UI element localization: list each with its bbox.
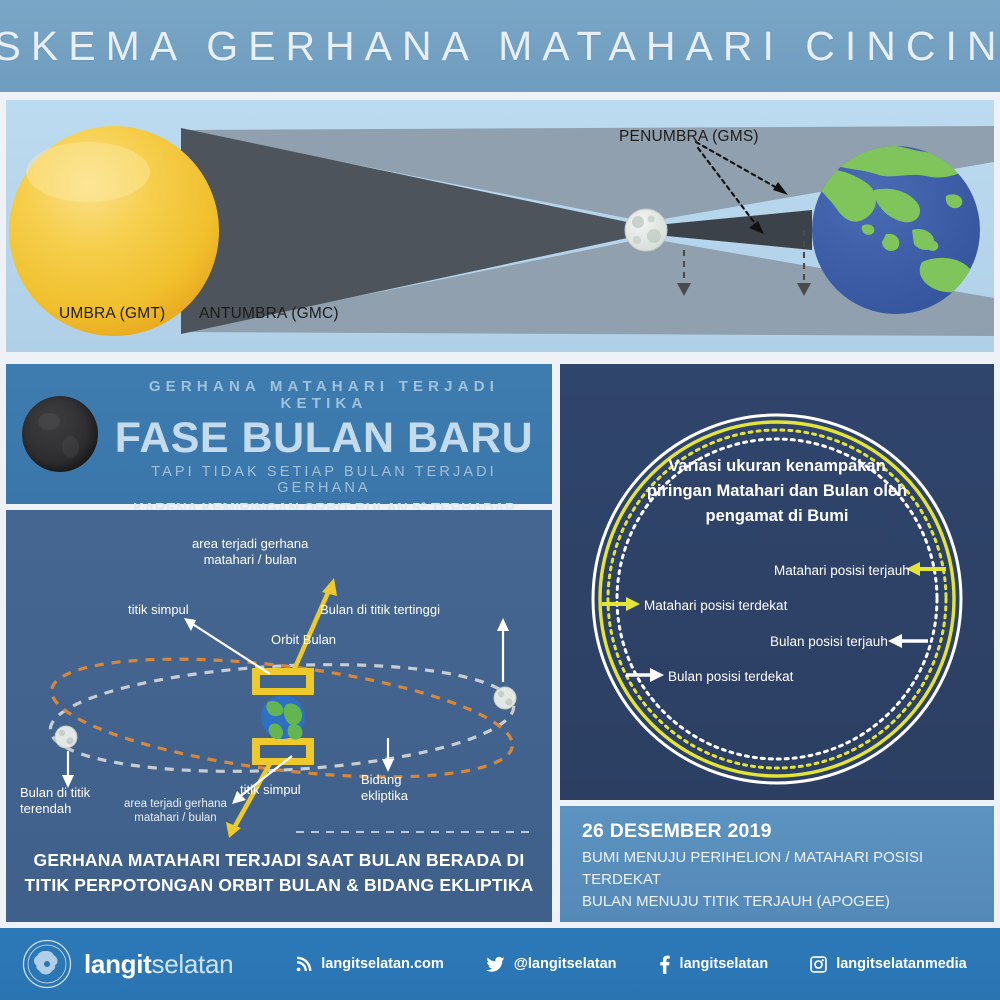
- moon-nearest-label: Bulan posisi terdekat: [668, 669, 793, 684]
- moon-highest-label: Bulan di titik tertinggi: [320, 602, 440, 618]
- moon-farthest-label: Bulan posisi terjauh: [770, 634, 888, 649]
- event-detail-line2: BULAN MENUJU TITIK TERJAUH (APOGEE): [582, 891, 994, 913]
- phase-line-1: GERHANA MATAHARI TERJADI KETIKA: [104, 378, 544, 412]
- ecliptic-plane-label: Bidang ekliptika: [361, 772, 408, 804]
- social-label-instagram: langitselatanmedia: [836, 956, 967, 972]
- phase-headline: FASE BULAN BARU: [104, 414, 544, 462]
- lowest-point-arrow: [62, 751, 74, 788]
- social-link-twitter[interactable]: @langitselatan: [486, 956, 617, 973]
- apparent-size-panel: Variasi ukuran kenampakan piringan Matah…: [560, 364, 994, 800]
- eclipse-area-bottom-line1: area terjadi gerhana: [124, 797, 227, 811]
- eclipse-area-top-line2: matahari / bulan: [192, 552, 308, 568]
- brand-name: langitselatan: [84, 949, 233, 980]
- eclipse-area-top-line1: area terjadi gerhana: [192, 536, 308, 552]
- apparent-size-title-line3: pengamat di Bumi: [620, 504, 934, 529]
- phase-line-3: TAPI TIDAK SETIAP BULAN TERJADI GERHANA: [104, 464, 544, 496]
- moon-lowest-point: [55, 726, 77, 748]
- twitter-icon: [486, 956, 505, 973]
- sun-farthest-label: Matahari posisi terjauh: [774, 563, 910, 578]
- brand-lockup[interactable]: langitselatan: [22, 939, 233, 989]
- social-link-facebook[interactable]: langitselatan: [659, 955, 769, 974]
- sun-farthest-arrow: [906, 562, 946, 576]
- infographic-page: SKEMA GERHANA MATAHARI CINCIN: [0, 0, 1000, 1000]
- social-link-instagram[interactable]: langitselatanmedia: [810, 956, 967, 973]
- instagram-icon: [810, 956, 827, 973]
- eclipse-area-arrow-top: [294, 578, 337, 670]
- orbit-caption-line1: GERHANA MATAHARI TERJADI SAAT BULAN BERA…: [6, 848, 552, 873]
- node-label-arrow-top: [184, 618, 270, 674]
- social-label-twitter: @langitselatan: [514, 956, 617, 972]
- page-header: SKEMA GERHANA MATAHARI CINCIN: [0, 0, 1000, 92]
- event-date: 26 DESEMBER 2019: [582, 820, 994, 843]
- social-link-website[interactable]: langitselatan.com: [295, 956, 443, 973]
- penumbra-label: PENUMBRA (GMS): [619, 128, 759, 146]
- event-date-panel: 26 DESEMBER 2019 BUMI MENUJU PERIHELION …: [560, 806, 994, 922]
- node-label-bottom: titik simpul: [240, 782, 301, 798]
- apparent-size-title-line1: Variasi ukuran kenampakan: [620, 454, 934, 479]
- page-footer: langitselatan langitselatan.com @langits…: [0, 928, 1000, 1000]
- new-moon-phase-panel: GERHANA MATAHARI TERJADI KETIKA FASE BUL…: [6, 364, 552, 504]
- moon-farthest-arrow: [888, 634, 928, 648]
- moon: [625, 209, 667, 251]
- facebook-icon: [659, 955, 671, 974]
- orbit-caption: GERHANA MATAHARI TERJADI SAAT BULAN BERA…: [6, 848, 552, 898]
- orbit-caption-line2: TITIK PERPOTONGAN ORBIT BULAN & BIDANG E…: [6, 873, 552, 898]
- earth-icon: [261, 695, 305, 740]
- eclipse-area-label-bottom: area terjadi gerhana matahari / bulan: [124, 797, 227, 825]
- langitselatan-seal-logo: [22, 939, 72, 989]
- apparent-size-svg: [560, 364, 994, 800]
- moon-orbit-panel: area terjadi gerhana matahari / bulan ti…: [6, 510, 552, 922]
- brand-name-light: selatan: [152, 949, 234, 979]
- moon-orbit-label: Orbit Bulan: [271, 632, 336, 648]
- brand-name-bold: langit: [84, 949, 152, 979]
- moon-nearest-arrow: [626, 668, 664, 682]
- page-title: SKEMA GERHANA MATAHARI CINCIN: [0, 23, 1000, 70]
- moon-lowest-line1: Bulan di titik: [20, 785, 90, 801]
- eclipse-area-bottom-line2: matahari / bulan: [124, 811, 227, 825]
- eclipse-area-label-top: area terjadi gerhana matahari / bulan: [192, 536, 308, 568]
- social-label-website: langitselatan.com: [321, 956, 443, 972]
- node-label-top: titik simpul: [128, 602, 189, 618]
- ascending-node-marker: [252, 668, 314, 695]
- apparent-size-title: Variasi ukuran kenampakan piringan Matah…: [620, 454, 934, 529]
- ecliptic-line1: Bidang: [361, 772, 408, 788]
- social-links: langitselatan.com @langitselatan langits…: [295, 955, 966, 974]
- umbra-label: UMBRA (GMT): [59, 305, 165, 323]
- rss-icon: [295, 956, 312, 973]
- moon-highest-point: [494, 687, 516, 709]
- event-detail-line1: BUMI MENUJU PERIHELION / MATAHARI POSISI…: [582, 847, 994, 891]
- ecliptic-plane-arrow: [382, 738, 394, 772]
- moon-lowest-label: Bulan di titik terendah: [20, 785, 90, 817]
- new-moon-icon: [22, 396, 98, 472]
- descending-node-marker: [252, 738, 314, 765]
- apparent-size-title-line2: piringan Matahari dan Bulan oleh: [620, 479, 934, 504]
- ecliptic-line2: ekliptika: [361, 788, 408, 804]
- social-label-facebook: langitselatan: [680, 956, 769, 972]
- sun-nearest-label: Matahari posisi terdekat: [644, 598, 787, 613]
- moon-lowest-line2: terendah: [20, 801, 90, 817]
- eclipse-geometry-diagram: PENUMBRA (GMS) UMBRA (GMT) ANTUMBRA (GMC…: [6, 100, 994, 352]
- antumbra-label: ANTUMBRA (GMC): [199, 305, 339, 323]
- highest-point-arrow: [497, 618, 509, 682]
